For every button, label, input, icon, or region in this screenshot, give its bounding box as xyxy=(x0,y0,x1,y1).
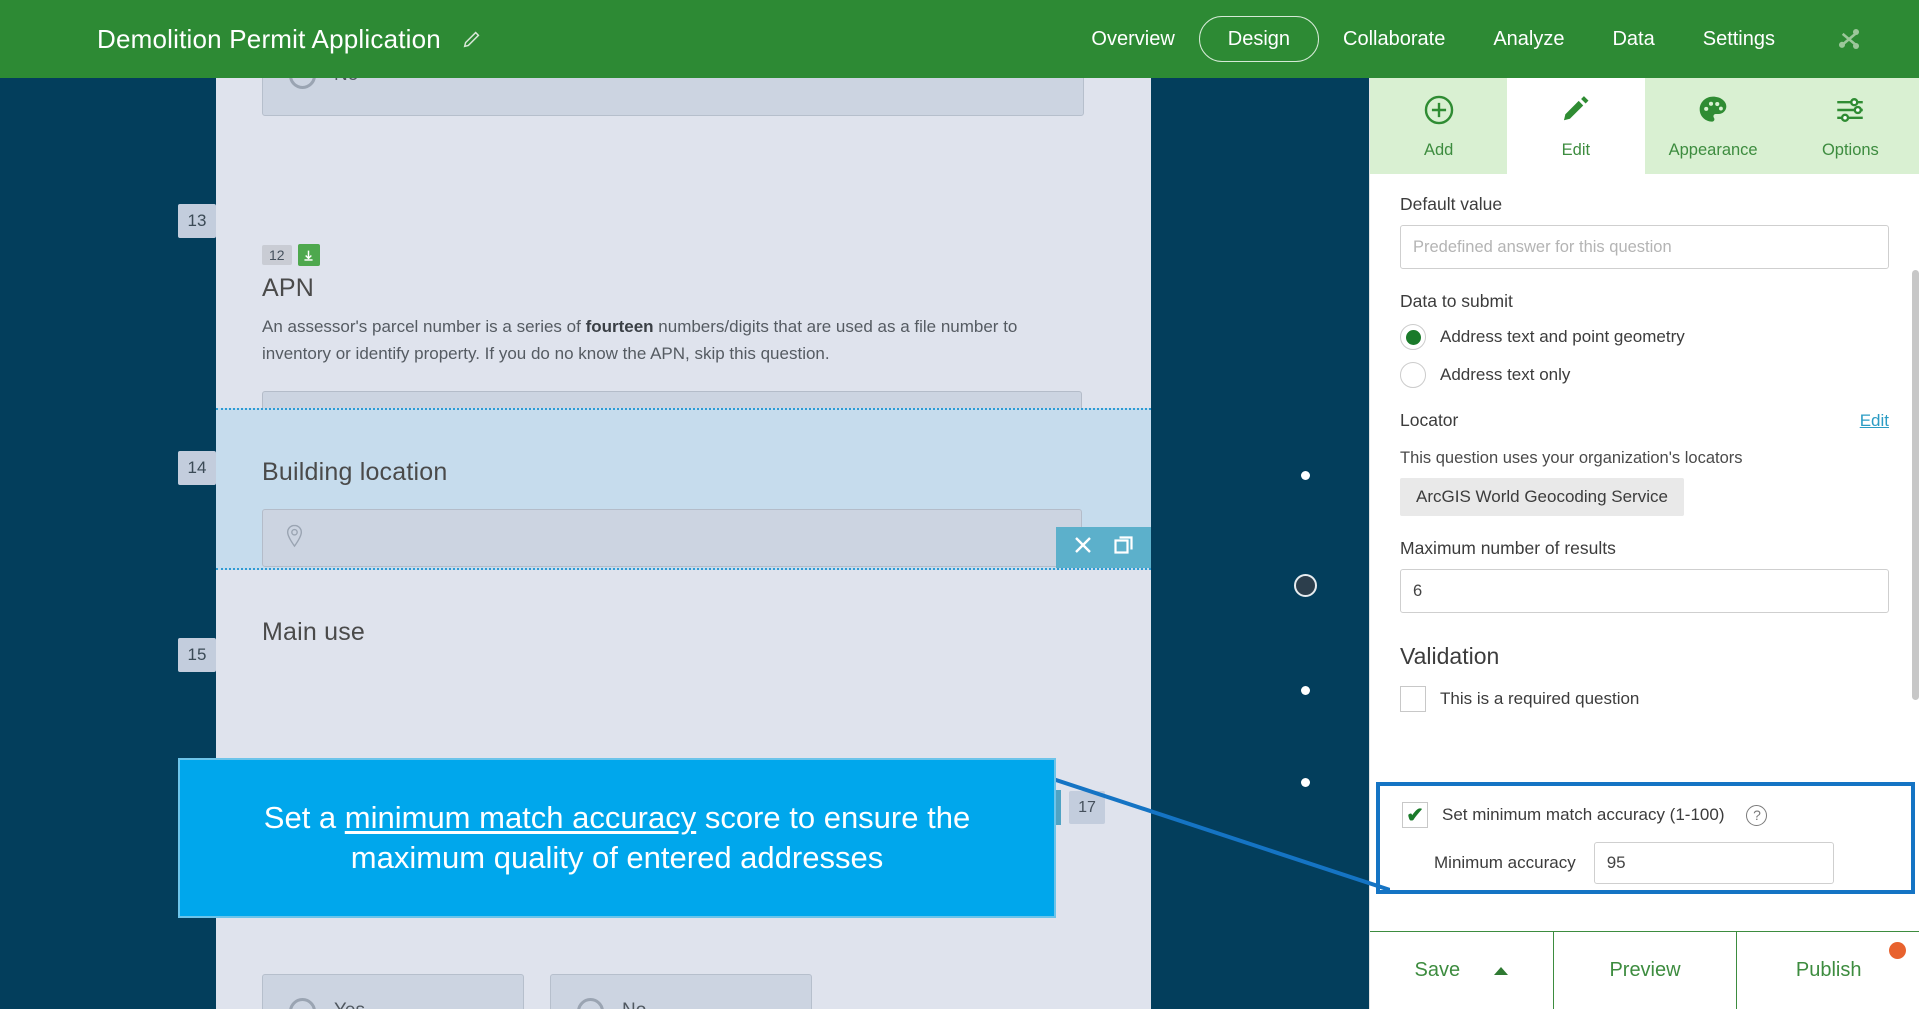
publish-button[interactable]: Publish xyxy=(1737,932,1919,1009)
application-window: Demolition Permit Application Overview D… xyxy=(0,0,1919,1009)
question-number-badge-15[interactable]: 15 xyxy=(178,638,216,672)
radio-icon xyxy=(577,998,604,1009)
tab-label: Appearance xyxy=(1669,141,1758,160)
question-number-badge-14[interactable]: 14 xyxy=(178,451,216,485)
tab-add[interactable]: Add xyxy=(1370,78,1507,174)
tab-appearance[interactable]: Appearance xyxy=(1645,78,1782,174)
page-navigator xyxy=(1286,78,1326,1009)
checkbox-icon xyxy=(1400,686,1426,712)
question-number-badge-17[interactable]: 17 xyxy=(1069,791,1105,824)
nav-item-analyze[interactable]: Analyze xyxy=(1469,17,1588,61)
callout-text-underlined: minimum match accuracy xyxy=(345,800,696,835)
option-card-yes[interactable]: Yes xyxy=(262,974,524,1009)
question-title: Building location xyxy=(262,458,1151,487)
question-number-badge-13[interactable]: 13 xyxy=(178,204,216,238)
navigator-dot-3[interactable] xyxy=(1301,686,1310,695)
publish-label: Publish xyxy=(1796,959,1862,982)
data-to-submit-label: Data to submit xyxy=(1400,291,1889,312)
nav-item-overview[interactable]: Overview xyxy=(1067,17,1198,61)
panel-scrollbar[interactable] xyxy=(1912,270,1919,700)
locator-label: Locator xyxy=(1400,410,1458,431)
radio-icon xyxy=(289,78,316,89)
navigator-dot-2-current[interactable] xyxy=(1294,574,1317,597)
checkbox-label: Set minimum match accuracy (1-100) xyxy=(1442,805,1724,825)
checkbox-label: This is a required question xyxy=(1440,689,1639,709)
nav-item-design[interactable]: Design xyxy=(1199,16,1319,62)
navigator-dot-4[interactable] xyxy=(1301,778,1310,787)
callout-text: Set a minimum match accuracy score to en… xyxy=(180,798,1054,877)
checkbox-required-question[interactable]: This is a required question xyxy=(1400,686,1889,712)
radio-option-address-text-only[interactable]: Address text only xyxy=(1400,362,1889,388)
panel-tabs: Add Edit xyxy=(1370,78,1919,174)
locator-edit-link[interactable]: Edit xyxy=(1860,411,1889,431)
data-to-submit-section: Data to submit Address text and point ge… xyxy=(1400,291,1889,388)
min-accuracy-row: Minimum accuracy xyxy=(1434,842,1889,884)
preview-button[interactable]: Preview xyxy=(1554,932,1738,1009)
tab-options[interactable]: Options xyxy=(1782,78,1919,174)
radio-label: Address text and point geometry xyxy=(1440,327,1685,347)
right-rail xyxy=(1151,78,1369,1009)
status-badge xyxy=(1889,942,1906,959)
save-label: Save xyxy=(1415,959,1461,982)
question-selection-toolbar xyxy=(1056,527,1151,568)
primary-nav: Overview Design Collaborate Analyze Data… xyxy=(1067,16,1919,62)
preview-label: Preview xyxy=(1609,959,1680,982)
nav-item-settings[interactable]: Settings xyxy=(1679,17,1799,61)
default-value-input[interactable] xyxy=(1400,225,1889,269)
caret-up-icon[interactable] xyxy=(1494,967,1508,975)
checkbox-set-minimum-match-accuracy[interactable]: ✔ Set minimum match accuracy (1-100) ? xyxy=(1402,802,1889,828)
panel-footer: Save Preview Publish xyxy=(1370,931,1919,1009)
page-title: Demolition Permit Application xyxy=(97,24,441,55)
min-accuracy-label: Minimum accuracy xyxy=(1434,853,1576,873)
tab-label: Edit xyxy=(1562,141,1590,160)
max-results-section: Maximum number of results xyxy=(1400,538,1889,613)
map-pin-icon xyxy=(285,524,304,553)
panel-content: Default value Data to submit Address tex… xyxy=(1370,174,1919,931)
tab-edit[interactable]: Edit xyxy=(1507,78,1644,174)
question-block-partial: No xyxy=(216,78,1151,116)
question-title: Main use xyxy=(262,618,1151,647)
locator-chip: ArcGIS World Geocoding Service xyxy=(1400,478,1684,516)
save-button[interactable]: Save xyxy=(1370,932,1554,1009)
question-block-main-use[interactable]: Main use xyxy=(216,618,1151,647)
option-card-no[interactable]: No xyxy=(550,974,812,1009)
sliders-icon xyxy=(1833,93,1867,132)
tab-label: Add xyxy=(1424,141,1453,160)
option-row: Yes No xyxy=(262,974,1151,1009)
question-block-yes-no: Yes No xyxy=(216,958,1151,1009)
radio-label: Address text only xyxy=(1440,365,1570,385)
option-label: No xyxy=(622,1000,646,1009)
question-number-tag: 12 xyxy=(262,245,292,265)
question-mark-icon[interactable]: ? xyxy=(1746,805,1767,826)
default-value-label: Default value xyxy=(1400,194,1889,215)
checkbox-icon-checked: ✔ xyxy=(1402,802,1428,828)
palette-icon xyxy=(1696,93,1730,132)
download-arrow-icon[interactable] xyxy=(298,244,320,266)
option-label: Yes xyxy=(334,1000,365,1009)
building-location-input[interactable] xyxy=(262,509,1082,567)
tab-label: Options xyxy=(1822,141,1879,160)
option-label: No xyxy=(334,78,358,86)
plus-circle-icon xyxy=(1422,93,1456,132)
option-card-no[interactable]: No xyxy=(262,78,1084,116)
max-results-label: Maximum number of results xyxy=(1400,538,1889,559)
radio-icon-selected xyxy=(1400,324,1426,350)
properties-panel: Add Edit xyxy=(1369,78,1919,1009)
question-tag: 12 xyxy=(262,244,1151,266)
app-header: Demolition Permit Application Overview D… xyxy=(0,0,1919,78)
question-title: APN xyxy=(262,274,1151,303)
min-accuracy-input[interactable] xyxy=(1594,842,1834,884)
copy-icon[interactable] xyxy=(1112,533,1136,562)
locator-header: Locator Edit xyxy=(1400,410,1889,441)
question-block-building-location[interactable]: Building location xyxy=(216,408,1151,570)
radio-icon xyxy=(1400,362,1426,388)
hint-part-1: An assessor's parcel number is a series … xyxy=(262,317,586,336)
annotation-callout: Set a minimum match accuracy score to en… xyxy=(178,758,1056,918)
callout-text-part-1: Set a xyxy=(264,800,345,835)
min-accuracy-highlight-box: ✔ Set minimum match accuracy (1-100) ? M… xyxy=(1376,782,1915,894)
question-hint: An assessor's parcel number is a series … xyxy=(262,313,1052,367)
pencil-icon xyxy=(1559,93,1593,132)
radio-option-address-text-and-point-geometry[interactable]: Address text and point geometry xyxy=(1400,324,1889,350)
navigator-dot-1[interactable] xyxy=(1301,471,1310,480)
locator-section: Locator Edit This question uses your org… xyxy=(1400,410,1889,516)
close-icon[interactable] xyxy=(1071,533,1095,562)
radio-icon xyxy=(289,998,316,1009)
max-results-input[interactable] xyxy=(1400,569,1889,613)
nav-item-data[interactable]: Data xyxy=(1588,17,1678,61)
hint-bold: fourteen xyxy=(586,317,654,336)
validation-heading: Validation xyxy=(1400,643,1889,670)
share-icon[interactable] xyxy=(1799,25,1889,53)
locator-description: This question uses your organization's l… xyxy=(1400,449,1889,468)
nav-item-collaborate[interactable]: Collaborate xyxy=(1319,17,1469,61)
pencil-icon[interactable] xyxy=(461,28,483,50)
